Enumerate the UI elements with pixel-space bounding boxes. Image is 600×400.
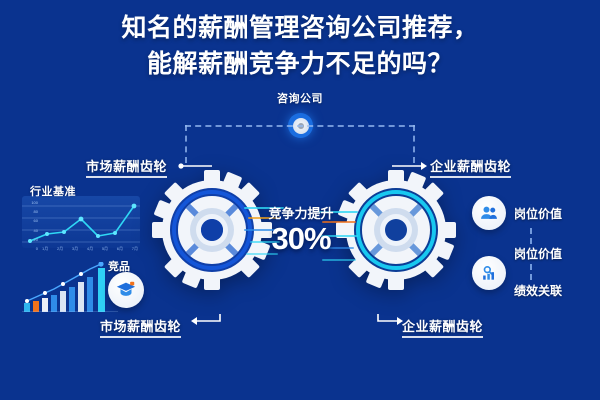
x-tick: 1月 bbox=[42, 246, 48, 254]
competitiveness-value: 30% bbox=[255, 222, 347, 256]
y-tick: 20 bbox=[24, 235, 38, 244]
leader-line-top-left bbox=[178, 160, 214, 172]
x-tick: 2月 bbox=[57, 246, 63, 254]
connector-bus-horizontal bbox=[185, 125, 415, 127]
x-tick: 7月 bbox=[132, 246, 138, 254]
callout-top-right: 企业薪酬齿轮 bbox=[430, 156, 511, 178]
people-icon bbox=[472, 196, 506, 230]
top-node-label: 咨询公司 bbox=[0, 90, 600, 106]
right-item-label-2: 岗位价值 bbox=[514, 245, 562, 262]
x-tick: 6月 bbox=[117, 246, 123, 254]
bar-chart-icon bbox=[472, 256, 506, 290]
connector-bus-left bbox=[185, 125, 187, 163]
callout-top-left: 市场薪酬齿轮 bbox=[86, 156, 167, 178]
competitiveness-caption: 竞争力提升 bbox=[255, 206, 347, 222]
leader-line-bottom-left bbox=[190, 312, 222, 328]
title-line-2: 能解薪酬竞争力不足的吗？ bbox=[0, 46, 600, 82]
page-title: 知名的薪酬管理咨询公司推荐， 能解薪酬竞争力不足的吗？ bbox=[0, 10, 600, 82]
line-chart-x-axis: 1月 2月 3月 4月 5月 6月 7月 bbox=[42, 246, 138, 254]
right-item-label-1: 岗位价值 bbox=[514, 205, 562, 222]
x-tick: 5月 bbox=[102, 246, 108, 254]
y-tick: 60 bbox=[24, 216, 38, 225]
industry-benchmark-line-chart bbox=[22, 196, 140, 248]
y-tick: 100 bbox=[24, 198, 38, 207]
right-connector-1 bbox=[530, 228, 532, 244]
y-tick: 80 bbox=[24, 207, 38, 216]
callout-bottom-right: 企业薪酬齿轮 bbox=[402, 316, 483, 338]
connector-bus-right bbox=[413, 125, 415, 163]
callout-bottom-left: 市场薪酬齿轮 bbox=[100, 316, 181, 338]
right-connector-2 bbox=[530, 264, 532, 280]
competitiveness-callout: 竞争力提升 30% bbox=[255, 206, 347, 256]
y-tick: 0 bbox=[24, 244, 38, 253]
right-item-label-3: 绩效关联 bbox=[514, 282, 562, 299]
salary-distribution-bar-chart bbox=[22, 262, 118, 312]
x-tick: 3月 bbox=[72, 246, 78, 254]
x-tick: 4月 bbox=[87, 246, 93, 254]
line-chart-y-axis: 100 80 60 40 20 0 bbox=[24, 198, 38, 246]
infographic-canvas: 知名的薪酬管理咨询公司推荐， 能解薪酬竞争力不足的吗？ 咨询公司 行业基准 1 bbox=[0, 0, 600, 400]
leader-line-bottom-right bbox=[376, 312, 404, 328]
graduation-cap-icon bbox=[108, 272, 144, 308]
title-line-1: 知名的薪酬管理咨询公司推荐， bbox=[0, 10, 600, 46]
leader-line-top-right bbox=[392, 160, 428, 172]
y-tick: 40 bbox=[24, 226, 38, 235]
